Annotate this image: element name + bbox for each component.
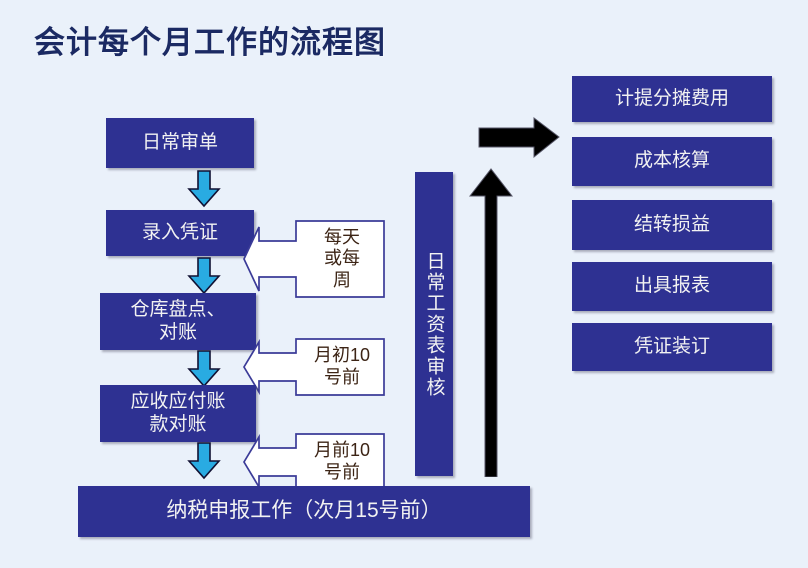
process-box-voucher-binding-label: 凭证装订 — [572, 336, 772, 358]
arrow-down-icon — [187, 442, 221, 480]
process-box-payroll-review[interactable]: 日常工资表审核 — [415, 172, 453, 476]
process-box-daily-audit[interactable]: 日常审单 — [106, 118, 254, 168]
process-box-inventory-count[interactable]: 仓库盘点、 对账 — [100, 293, 256, 350]
process-box-ar-ap-reconcile[interactable]: 应收应付账 款对账 — [100, 385, 256, 442]
process-box-issue-statements[interactable]: 出具报表 — [572, 262, 772, 311]
process-box-carry-forward-pl-label: 结转损益 — [572, 214, 772, 236]
callout-before-10th-label: 月初10 号前 — [301, 340, 383, 394]
process-box-voucher-binding[interactable]: 凭证装订 — [572, 323, 772, 371]
process-box-tax-filing[interactable]: 纳税申报工作（次月15号前） — [78, 486, 530, 537]
process-box-cost-accounting-label: 成本核算 — [572, 150, 772, 172]
process-box-payroll-review-label: 日常工资表审核 — [425, 251, 444, 398]
process-box-cost-accounting[interactable]: 成本核算 — [572, 137, 772, 186]
process-box-accrue-allocate-expense[interactable]: 计提分摊费用 — [572, 76, 772, 122]
callout-daily-or-weekly-label: 每天 或每 周 — [303, 223, 381, 295]
process-box-enter-voucher-label: 录入凭证 — [106, 222, 254, 244]
process-box-tax-filing-label: 纳税申报工作（次月15号前） — [78, 499, 530, 524]
arrow-up-icon — [466, 148, 516, 477]
arrow-down-icon — [187, 257, 221, 295]
page-title: 会计每个月工作的流程图 — [34, 17, 386, 62]
arrow-down-icon — [187, 170, 221, 208]
process-box-inventory-count-label: 仓库盘点、 对账 — [100, 299, 256, 344]
callout-before-10th[interactable]: 月初10 号前 — [243, 334, 385, 400]
flowchart-canvas: 会计每个月工作的流程图 日常审单 录入凭证 每天 或每 周 仓库盘点、 对账 月… — [0, 0, 808, 568]
process-box-accrue-allocate-expense-label: 计提分摊费用 — [572, 88, 772, 110]
process-box-enter-voucher[interactable]: 录入凭证 — [106, 210, 254, 256]
callout-before-10th-prior-label: 月前10 号前 — [301, 435, 383, 489]
callout-daily-or-weekly[interactable]: 每天 或每 周 — [243, 213, 385, 305]
arrow-down-icon — [187, 350, 221, 388]
process-box-issue-statements-label: 出具报表 — [572, 275, 772, 297]
process-box-ar-ap-reconcile-label: 应收应付账 款对账 — [100, 391, 256, 436]
process-box-daily-audit-label: 日常审单 — [106, 132, 254, 154]
process-box-carry-forward-pl[interactable]: 结转损益 — [572, 200, 772, 250]
arrow-right-icon — [478, 116, 560, 160]
